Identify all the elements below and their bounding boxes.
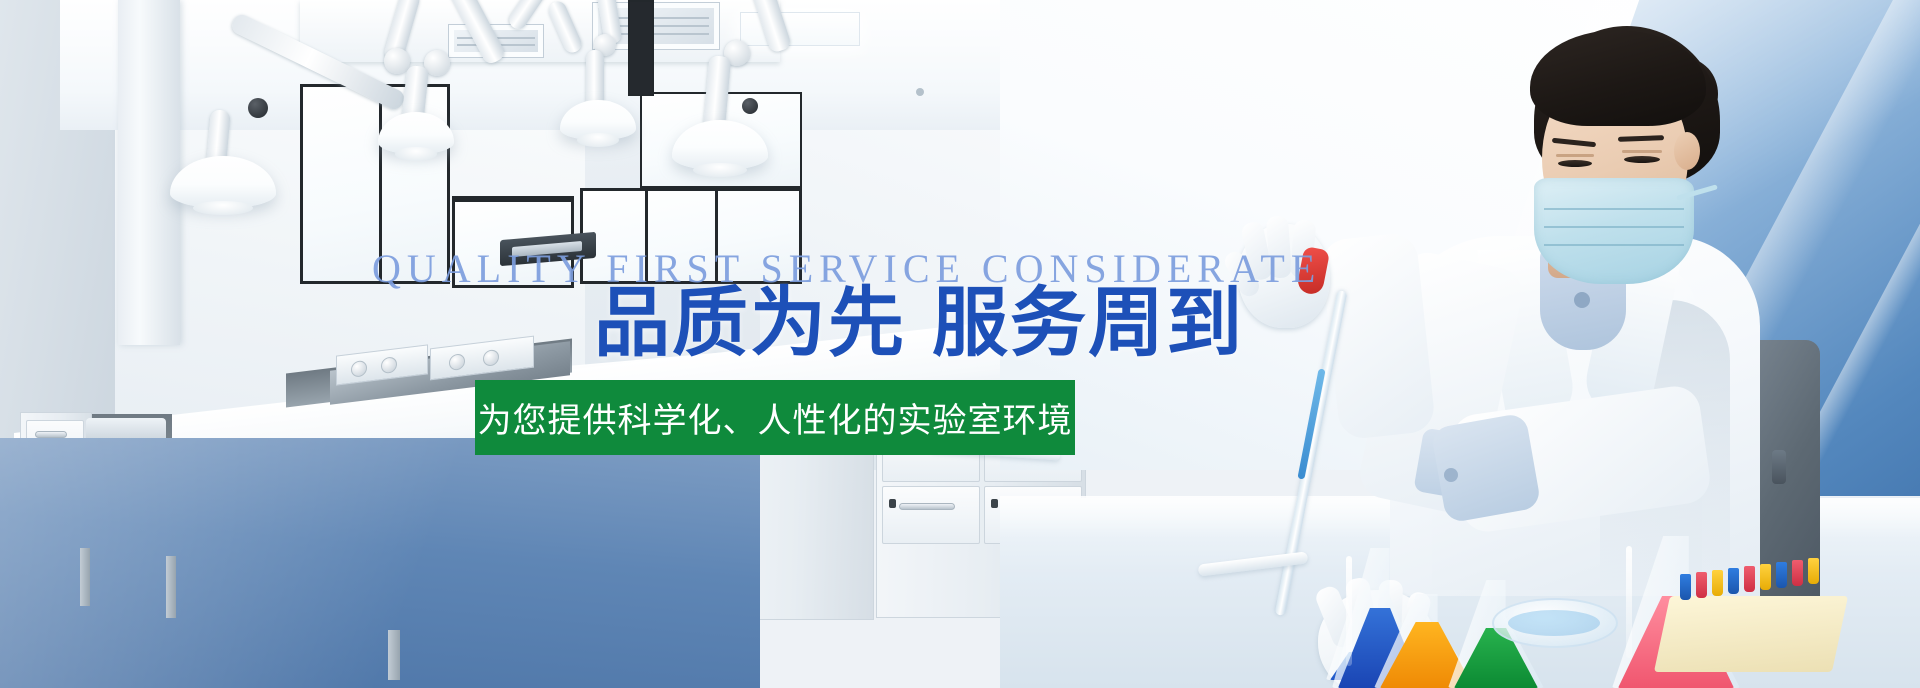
subheadline-text: 为您提供科学化、人性化的实验室环境 (478, 393, 1073, 442)
subheadline-green-bar: 为您提供科学化、人性化的实验室环境 (475, 380, 1075, 455)
headline-text-block: QUALITY FIRST SERVICE CONSIDERATE 品质为先服务… (0, 0, 1920, 688)
headline-part-1: 品质为先 (594, 281, 906, 366)
main-headline: 品质为先服务周到 (594, 283, 1244, 365)
headline-part-2: 服务周到 (932, 281, 1244, 366)
hero-banner: QUALITY FIRST SERVICE CONSIDERATE 品质为先服务… (0, 0, 1920, 688)
